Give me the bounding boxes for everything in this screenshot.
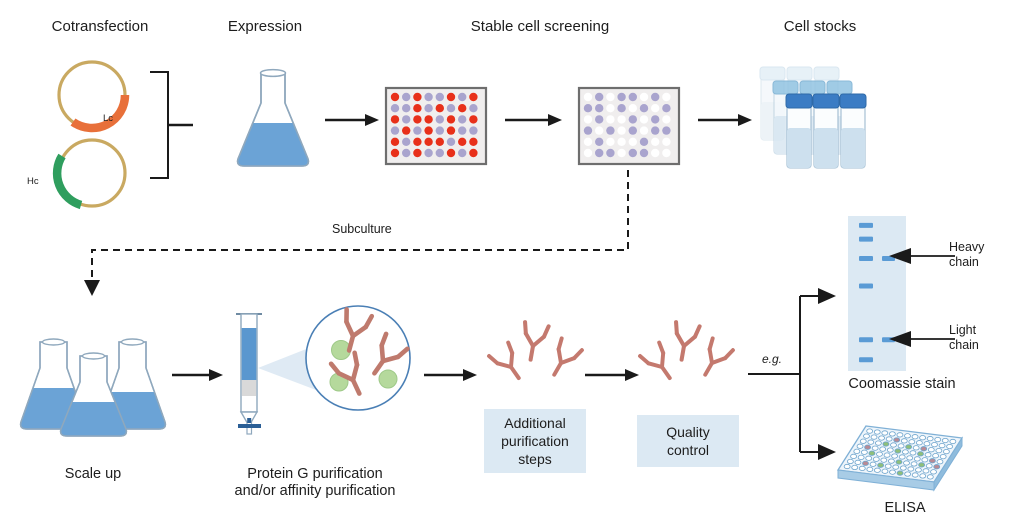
plasmid-label-hc: Hc — [27, 176, 39, 187]
caption-coomassie-stain: Coomassie stain — [822, 376, 982, 393]
subculture-label: Subculture — [332, 222, 392, 237]
plasmid-label-lc: Lc — [103, 113, 113, 124]
label-light-chain-line2: chain — [949, 338, 979, 353]
header-cell-stocks: Cell stocks — [720, 18, 920, 35]
branch-label-eg: e.g. — [762, 352, 782, 366]
label-light-chain-line1: Light — [949, 323, 979, 338]
arrow-scaleup-to-column — [172, 368, 224, 382]
arrow-screening-to-selection — [505, 113, 563, 127]
plasmid-bracket — [148, 70, 208, 180]
antibody-cluster-purification — [487, 326, 583, 388]
header-expression: Expression — [175, 18, 355, 35]
caption-scale-up: Scale up — [28, 466, 158, 483]
subculture-path — [80, 170, 650, 305]
coomassie-gel — [848, 216, 906, 371]
label-light-chain: Light chain — [949, 323, 979, 353]
workflow-diagram: Cotransfection Expression Stable cell sc… — [0, 0, 1014, 526]
arrow-purification-to-qc — [585, 368, 640, 382]
erlenmeyer-flask-expression — [228, 63, 318, 173]
box-additional-purification-steps: Additional purification steps — [484, 409, 586, 473]
arrow-expression-to-screening — [325, 113, 380, 127]
caption-elisa: ELISA — [850, 500, 960, 517]
header-stable-cell-screening: Stable cell screening — [440, 18, 640, 35]
box-line-2: purification — [501, 432, 569, 450]
arrow-column-to-purification — [424, 368, 478, 382]
antibody-cluster-qc — [638, 326, 734, 388]
scale-up-flasks — [18, 330, 178, 440]
plasmid-light-chain — [40, 55, 150, 135]
screening-plate-2 — [578, 87, 680, 165]
screening-plate-1 — [385, 87, 487, 165]
box-line-3: steps — [518, 450, 551, 468]
arrow-light-chain — [889, 331, 957, 347]
label-heavy-chain-line2: chain — [949, 255, 984, 270]
magnifier-view — [303, 303, 413, 413]
cryovial-stack — [755, 58, 875, 170]
arrow-selection-to-stocks — [698, 113, 753, 127]
header-cotransfection: Cotransfection — [0, 18, 200, 35]
box-line-2: control — [667, 441, 709, 459]
label-heavy-chain-line1: Heavy — [949, 240, 984, 255]
label-heavy-chain: Heavy chain — [949, 240, 984, 270]
box-quality-control: Quality control — [637, 415, 739, 467]
caption-protein-g-line2: and/or affinity purification — [203, 483, 427, 500]
caption-protein-g-line1: Protein G purification — [203, 466, 427, 483]
arrow-heavy-chain — [889, 248, 957, 264]
box-line-1: Quality — [666, 423, 710, 441]
box-line-1: Additional — [504, 414, 566, 432]
elisa-plate — [836, 424, 964, 496]
